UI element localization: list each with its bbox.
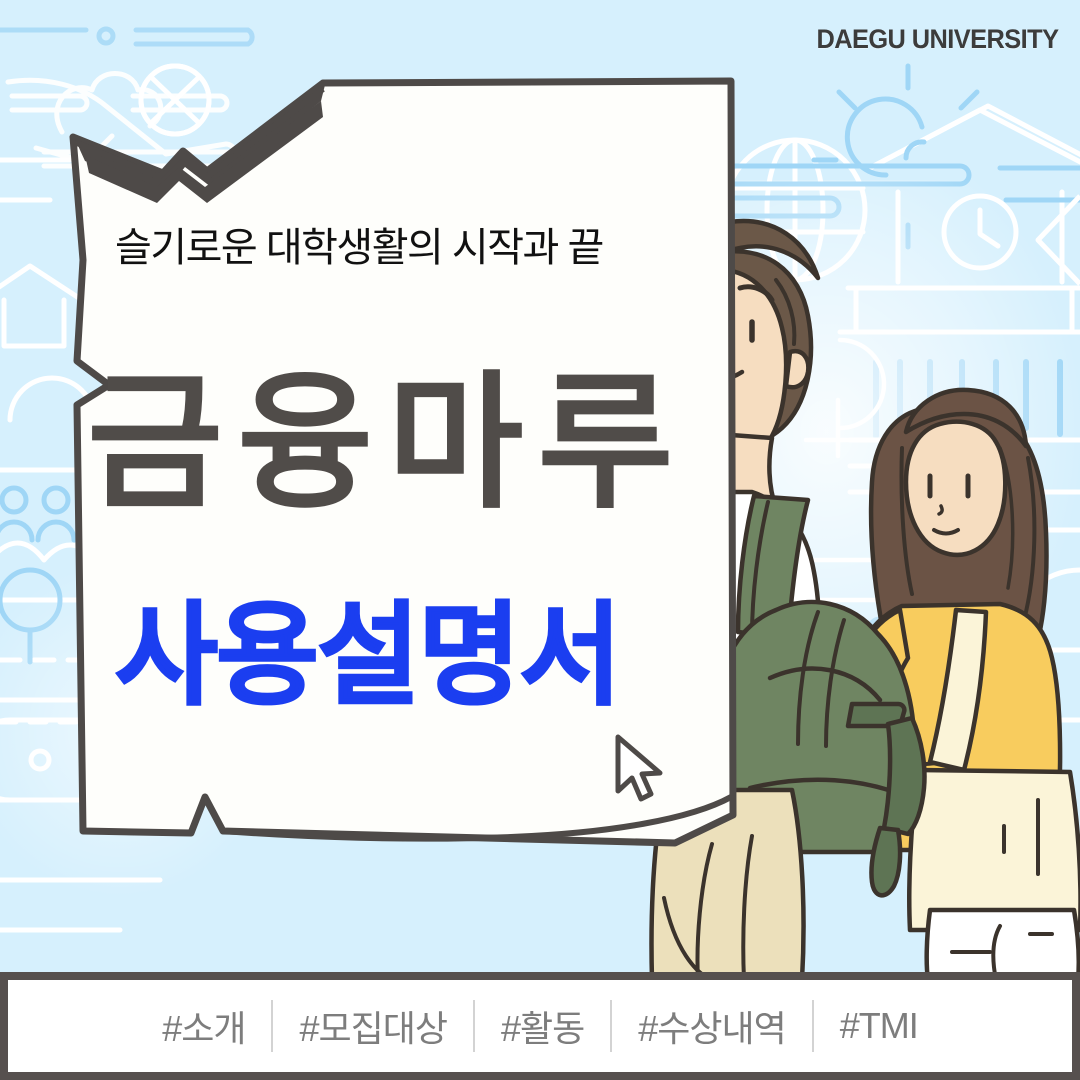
tab-bar: #소개 #모집대상 #활동 #수상내역 #TMI bbox=[0, 972, 1080, 1080]
tab-bar-inner: #소개 #모집대상 #활동 #수상내역 #TMI bbox=[8, 980, 1072, 1072]
tab-activities[interactable]: #활동 bbox=[475, 1000, 610, 1052]
tab-recruitment-target[interactable]: #모집대상 bbox=[273, 1000, 473, 1052]
card-subtitle-blue: 사용설명서 bbox=[115, 600, 755, 712]
university-brand-logo: DAEGU UNIVERSITY bbox=[816, 24, 1058, 55]
card-title: 금융마루 bbox=[87, 370, 727, 518]
tab-awards[interactable]: #수상내역 bbox=[612, 1000, 812, 1052]
card-subtitle: 슬기로운 대학생활의 시작과 끝 bbox=[115, 215, 715, 273]
tab-intro[interactable]: #소개 bbox=[136, 1000, 271, 1052]
mouse-pointer-icon bbox=[612, 733, 668, 805]
tab-tmi[interactable]: #TMI bbox=[814, 1005, 944, 1047]
poster-root: 슬기로운 대학생활의 시작과 끝 금융마루 사용설명서 #소개 #모집대상 #활… bbox=[0, 0, 1080, 1080]
